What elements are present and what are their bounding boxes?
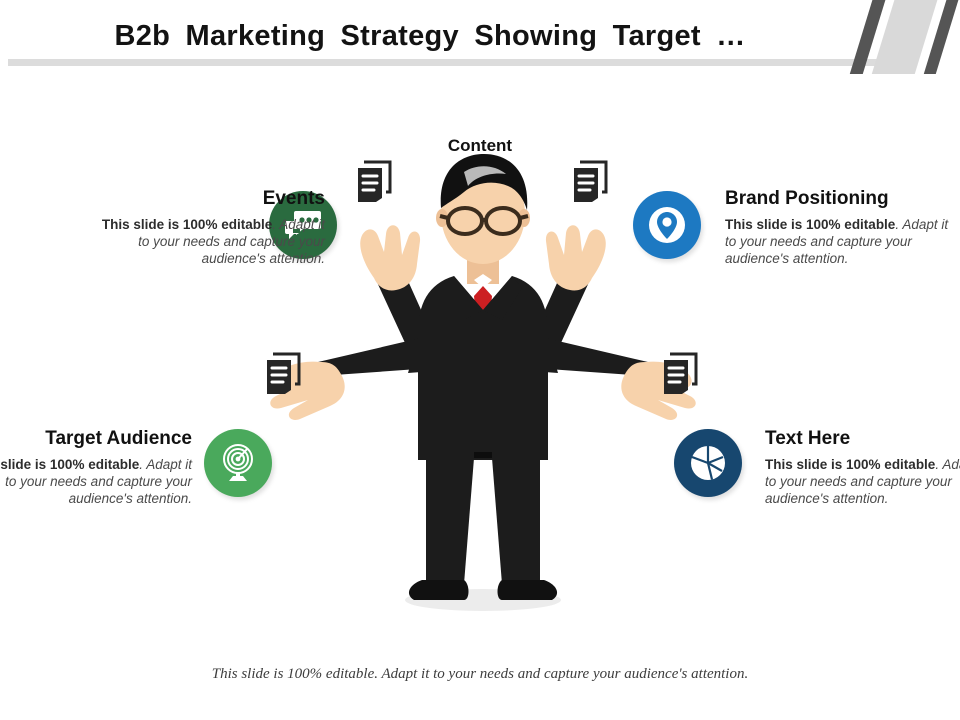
radar-target-icon[interactable] <box>204 429 272 497</box>
text-block-brand-positioning: Brand Positioning This slide is 100% edi… <box>725 188 955 267</box>
block-body-bold-events: This slide is 100% editable <box>102 217 272 232</box>
document-icon-lower-right <box>658 350 706 403</box>
document-icon-upper-right <box>568 158 616 211</box>
text-block-target-audience: Target Audience This slide is 100% edita… <box>0 428 192 507</box>
block-body-bold-brand-positioning: This slide is 100% editable <box>725 217 895 232</box>
text-block-text-here: Text Here This slide is 100% editable. A… <box>765 428 960 507</box>
page-title: B2b Marketing Strategy Showing Target … <box>0 20 860 53</box>
text-block-events: Events This slide is 100% editable. Adap… <box>95 188 325 267</box>
block-body-target-audience: This slide is 100% editable. Adapt it to… <box>0 456 192 507</box>
document-icon-lower-left <box>261 350 309 403</box>
block-body-events: This slide is 100% editable. Adapt it to… <box>95 216 325 267</box>
title-area: B2b Marketing Strategy Showing Target … <box>0 0 960 72</box>
block-heading-events: Events <box>95 188 325 210</box>
block-heading-brand-positioning: Brand Positioning <box>725 188 955 210</box>
corner-decoration <box>840 0 960 72</box>
block-body-text-here: This slide is 100% editable. Adapt it to… <box>765 456 960 507</box>
location-pin-icon[interactable] <box>633 191 701 259</box>
title-divider <box>8 59 888 66</box>
block-body-bold-text-here: This slide is 100% editable <box>765 457 935 472</box>
block-body-brand-positioning: This slide is 100% editable. Adapt it to… <box>725 216 955 267</box>
block-body-bold-target-audience: This slide is 100% editable <box>0 457 139 472</box>
slide-canvas: B2b Marketing Strategy Showing Target … … <box>0 0 960 720</box>
footer-note: This slide is 100% editable. Adapt it to… <box>0 666 960 683</box>
block-heading-target-audience: Target Audience <box>0 428 192 450</box>
pie-chart-icon[interactable] <box>674 429 742 497</box>
document-icon-upper-left <box>352 158 400 211</box>
block-heading-text-here: Text Here <box>765 428 960 450</box>
